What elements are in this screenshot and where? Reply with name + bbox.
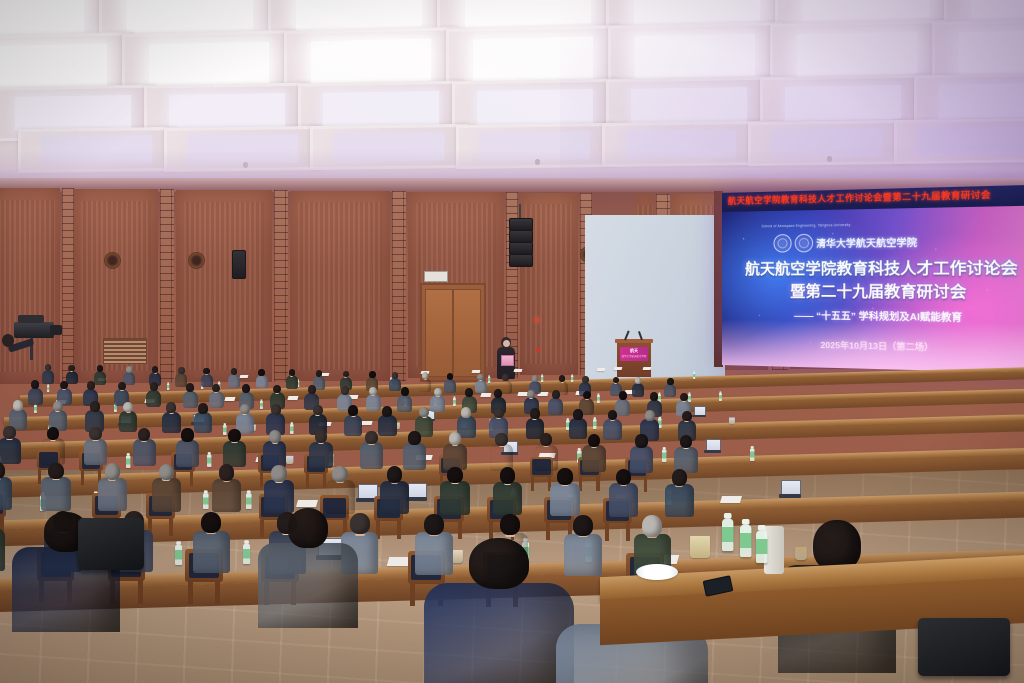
- ceiling-light-panel: [149, 41, 270, 85]
- bottle-cap: [247, 490, 251, 493]
- round-wall-speaker: [188, 252, 205, 269]
- camera-operator-head: [2, 334, 14, 347]
- audience-member: [236, 404, 255, 433]
- water-bottle: [756, 531, 767, 563]
- bottle-cap: [578, 448, 581, 450]
- audience-head: [316, 370, 322, 377]
- bottle-cap: [260, 400, 262, 401]
- water-bottle: [453, 397, 456, 405]
- chair-leg: [260, 473, 263, 487]
- bottle-cap: [488, 376, 490, 377]
- audience-torso: [193, 531, 231, 574]
- paper-document: [597, 368, 606, 371]
- audience-head: [348, 405, 358, 416]
- audience-torso: [146, 390, 161, 407]
- tsinghua-logo-row: 清华大学航天航空学院: [773, 230, 987, 253]
- audience-member: [146, 382, 161, 405]
- ceiling-light-panel: [169, 93, 284, 130]
- audience-member: [84, 427, 107, 463]
- audience-head: [465, 388, 473, 397]
- audience-member: [582, 434, 605, 470]
- aerospace-school-icon: [795, 234, 813, 253]
- audience-head: [308, 385, 316, 394]
- audience-member: [176, 428, 199, 464]
- audience-head: [343, 371, 349, 378]
- audience-head: [680, 435, 692, 448]
- audience-torso: [309, 442, 332, 469]
- water-bottle: [488, 377, 490, 383]
- water-bottle: [719, 393, 722, 401]
- audience-head: [447, 467, 463, 484]
- audience-torso: [380, 481, 409, 514]
- bottle-cap: [758, 525, 766, 531]
- bottle-cap: [224, 423, 226, 425]
- audience-member: [664, 378, 676, 396]
- audience-head: [424, 514, 444, 535]
- water-bottle: [34, 405, 37, 413]
- audience-torso: [263, 441, 286, 468]
- audience-head: [401, 387, 409, 396]
- audience-head: [616, 469, 632, 486]
- audience-member: [360, 431, 383, 467]
- audience-head: [97, 365, 103, 372]
- ceiling-light-panel: [634, 0, 760, 24]
- ceiling-light-panel: [797, 32, 918, 76]
- paper-document: [481, 393, 492, 397]
- audience-torso: [397, 395, 412, 412]
- tsinghua-seal-icon: [773, 234, 791, 253]
- audience-head: [126, 366, 132, 373]
- ceiling-light-panel: [803, 0, 929, 21]
- chair-leg: [410, 584, 415, 607]
- red-banner-text: 航天航空学院教育科技人才工作讨论会暨第二十九届教育研讨会: [728, 188, 991, 207]
- audience-torso: [0, 529, 5, 572]
- audience-head: [150, 382, 158, 391]
- audience-torso: [440, 481, 469, 514]
- paper-document: [613, 367, 622, 370]
- water-bottle: [750, 448, 754, 461]
- audience-head: [495, 433, 507, 446]
- chair-leg: [190, 472, 193, 486]
- audience-head: [240, 404, 250, 415]
- audience-head: [530, 408, 540, 419]
- audience-torso: [0, 438, 21, 465]
- audience-member: [212, 464, 241, 509]
- audience-member: [493, 467, 522, 512]
- backpack-right: [918, 618, 1010, 676]
- audience-head: [118, 382, 126, 391]
- audience-head: [369, 371, 375, 378]
- audience-head: [315, 430, 327, 443]
- audience-head: [313, 405, 323, 416]
- audience-member: [162, 402, 181, 431]
- water-bottle: [260, 401, 263, 409]
- ceiling-light-panel: [0, 44, 107, 88]
- laptop-keyboard: [779, 494, 801, 498]
- audience-member: [49, 401, 68, 430]
- audience-member: [152, 464, 181, 509]
- audience-member: [344, 405, 363, 434]
- audience-head: [434, 388, 442, 397]
- audience-torso: [152, 478, 181, 511]
- audience-member: [193, 512, 231, 570]
- audience-head: [90, 401, 100, 412]
- audience-head: [419, 407, 429, 418]
- bottle-cap: [571, 374, 573, 375]
- chair-leg: [644, 478, 647, 492]
- water-bottle: [167, 383, 169, 389]
- chair-leg: [531, 477, 534, 491]
- laptop-keyboard: [704, 450, 721, 453]
- chair-leg: [169, 519, 173, 537]
- line-array-module: [509, 254, 533, 267]
- audience-torso: [41, 477, 70, 510]
- audience-head: [181, 428, 193, 441]
- audience-member: [380, 466, 409, 511]
- bottle-cap: [597, 394, 599, 395]
- bottle-cap: [244, 540, 249, 544]
- paper-document: [643, 367, 652, 370]
- audience-head: [502, 374, 508, 381]
- audience-head: [228, 429, 240, 442]
- ceiling-light-panel: [631, 87, 746, 124]
- audience-head: [619, 391, 627, 400]
- audience-torso: [582, 445, 605, 472]
- audience-torso: [550, 483, 579, 516]
- foreground-head: [469, 538, 529, 589]
- bottle-cap: [594, 417, 596, 419]
- audience-head: [667, 378, 673, 385]
- audience-member: [41, 427, 64, 463]
- audience-head: [138, 428, 150, 441]
- audience-torso: [223, 441, 246, 468]
- backpack-left: [78, 518, 144, 570]
- audience-head: [449, 432, 461, 445]
- bottle-cap: [167, 382, 169, 383]
- audience-head: [13, 400, 23, 411]
- audience-member: [41, 463, 70, 508]
- paper-cup: [729, 418, 735, 424]
- audience-head: [557, 468, 573, 485]
- audience-member: [419, 372, 431, 390]
- chair-leg: [596, 477, 599, 491]
- audience-head: [387, 466, 403, 483]
- water-bottle: [571, 375, 573, 381]
- screen-title-line1: 航天航空学院教育科技人才工作讨论会: [722, 256, 1024, 279]
- audience-torso: [664, 384, 676, 398]
- audience-head: [608, 410, 618, 421]
- bottle-cap: [542, 375, 544, 376]
- audience-head: [552, 390, 560, 399]
- audience-torso: [133, 439, 156, 466]
- bottle-cap: [219, 381, 221, 382]
- screen-surface: 清华大学航天航空学院 School of Aerospace Engineeri…: [722, 204, 1024, 373]
- audience-head: [289, 369, 295, 376]
- round-wall-speaker: [104, 252, 121, 269]
- camera-body: [14, 322, 54, 338]
- audience-member: [326, 466, 355, 511]
- audience-head: [494, 408, 504, 419]
- chair-leg: [458, 522, 462, 540]
- audience-member: [256, 369, 268, 387]
- water-bottle: [593, 419, 597, 429]
- door-sign: [424, 271, 448, 282]
- audience-head: [477, 374, 483, 381]
- paper-document: [287, 396, 298, 400]
- audience-member: [665, 469, 694, 514]
- ceiling-light-panel: [0, 0, 84, 36]
- audience-head: [447, 373, 453, 380]
- chair-leg: [605, 523, 609, 541]
- bottle-cap: [126, 453, 129, 455]
- audience-head: [60, 381, 68, 390]
- audience-head: [47, 427, 59, 440]
- foreground-torso: [424, 583, 574, 683]
- audience-head: [369, 387, 377, 396]
- audience-head: [642, 515, 662, 536]
- audience-head: [341, 386, 349, 395]
- coffee-mug: [690, 536, 710, 558]
- chair-leg: [138, 581, 143, 604]
- paper-document: [720, 496, 742, 503]
- audience-member: [403, 431, 426, 467]
- water-bottle: [693, 373, 695, 379]
- ceiling-light-panel: [473, 37, 594, 81]
- laptop[interactable]: [704, 439, 721, 453]
- audience-torso: [0, 477, 12, 510]
- paper-document: [513, 369, 522, 372]
- audience-head: [89, 427, 101, 440]
- ceiling-light-panel: [465, 0, 591, 27]
- audience-member: [133, 428, 156, 464]
- water-bottle: [290, 424, 294, 434]
- audience-torso: [493, 482, 522, 515]
- paper-cup: [286, 456, 293, 464]
- screen-logo-cn: 清华大学航天航空学院: [816, 235, 917, 251]
- podium-top: [615, 339, 653, 343]
- water-bottle: [243, 544, 250, 564]
- audience-member: [674, 435, 697, 471]
- audience-member: [98, 463, 127, 508]
- audience-torso: [84, 439, 107, 466]
- ceiling-light-panel: [311, 39, 432, 83]
- chair-leg: [626, 523, 630, 541]
- audience-torso: [28, 388, 43, 405]
- audience-torso: [256, 375, 268, 389]
- audience-head: [105, 463, 121, 480]
- screen-title-line2: 暨第二十九届教育研讨会: [722, 280, 1024, 303]
- audience-head: [166, 402, 176, 413]
- audience-member: [440, 467, 469, 512]
- foreground-torso: [258, 543, 358, 628]
- audience-head: [635, 434, 647, 447]
- water-bottle: [740, 525, 751, 557]
- bottle-cap: [663, 447, 666, 449]
- water-bottle: [662, 449, 666, 462]
- ceiling-light-panel: [296, 0, 422, 30]
- water-bottle: [597, 395, 600, 403]
- audience-head: [573, 409, 583, 420]
- ceiling-light-panel: [635, 34, 756, 78]
- audience-head: [527, 390, 535, 399]
- bottle-cap: [204, 491, 208, 494]
- audience-head: [231, 368, 237, 375]
- audience-member: [609, 469, 638, 514]
- audience-area: [0, 350, 1024, 683]
- bottle-cap: [291, 422, 293, 424]
- audience-head: [672, 469, 688, 486]
- audience-member: [264, 465, 293, 510]
- water-bottle: [175, 544, 182, 564]
- ceiling-light-panel: [939, 83, 1024, 120]
- audience-head: [219, 464, 235, 481]
- ceiling-light-panel: [15, 95, 130, 132]
- audience-head: [573, 515, 593, 536]
- audience-head: [258, 369, 264, 376]
- audience-head: [461, 407, 471, 418]
- audience-head: [680, 393, 688, 402]
- audience-member: [286, 369, 298, 387]
- chair-leg: [579, 477, 582, 491]
- paper-document: [224, 397, 235, 401]
- audience-member: [119, 402, 138, 431]
- audience-head: [242, 384, 250, 393]
- audience-member: [550, 468, 579, 513]
- audience-head: [87, 381, 95, 390]
- audience-head: [3, 426, 15, 439]
- audience-head: [201, 512, 221, 533]
- ceiling-light-panel: [127, 0, 253, 33]
- audience-member: [266, 404, 285, 433]
- audience-member: [263, 430, 286, 466]
- audience-head: [45, 364, 51, 371]
- water-bottle: [203, 493, 209, 509]
- audience-member: [632, 377, 644, 395]
- wall-speaker-rect: [232, 250, 246, 279]
- chair-leg: [81, 471, 84, 485]
- audience-head: [159, 464, 175, 481]
- foreground-attendee-navy: [424, 538, 574, 683]
- audience-torso: [98, 478, 127, 511]
- audience-head: [500, 514, 520, 535]
- laptop[interactable]: [779, 480, 801, 498]
- audience-head: [540, 433, 552, 446]
- ceiling-light-panel: [477, 89, 592, 126]
- audience-head: [494, 389, 502, 398]
- bottle-cap: [750, 446, 753, 448]
- audience-head: [583, 391, 591, 400]
- audience-head: [271, 465, 287, 482]
- bottle-cap: [453, 396, 455, 397]
- audience-head: [332, 466, 348, 483]
- audience-head: [186, 383, 194, 392]
- conference-hall-photo: 清华大学航天航空学院 School of Aerospace Engineeri…: [0, 0, 1024, 683]
- audience-torso: [609, 483, 638, 516]
- paper-document: [296, 500, 318, 507]
- audience-torso: [42, 370, 54, 384]
- paper-document: [239, 375, 248, 378]
- audience-torso: [632, 383, 644, 397]
- audience-member: [0, 510, 5, 568]
- chair-leg: [215, 582, 220, 605]
- audience-torso: [41, 438, 64, 465]
- bottle-cap: [724, 513, 732, 519]
- audience-torso: [665, 484, 694, 517]
- audience-head: [48, 463, 64, 480]
- audience-member: [534, 433, 557, 469]
- audience-torso: [286, 375, 298, 389]
- audience-head: [123, 402, 133, 413]
- audience-head: [650, 392, 658, 401]
- plate: [636, 564, 678, 580]
- audience-member: [223, 429, 246, 465]
- audience-head: [198, 403, 208, 414]
- audience-head: [31, 380, 39, 389]
- audience-torso: [603, 419, 622, 440]
- ceiling-light-panel: [972, 0, 1024, 18]
- chair-leg: [306, 474, 309, 488]
- audience-torso: [444, 379, 456, 393]
- bottle-cap: [48, 385, 50, 386]
- ceiling-light-panel: [959, 29, 1024, 73]
- audience-head: [613, 377, 619, 384]
- foreground-attendee-grey: [258, 508, 358, 626]
- audience-head: [500, 467, 516, 484]
- audience-member: [603, 410, 622, 439]
- audience-head: [178, 367, 184, 374]
- chair-leg: [397, 521, 401, 539]
- audience-member: [443, 432, 466, 468]
- camera-hood: [18, 315, 44, 323]
- audience-head: [271, 404, 281, 415]
- audience-member: [28, 380, 43, 403]
- audience-head: [682, 411, 692, 422]
- audience-member: [444, 373, 456, 391]
- water-bottle: [47, 386, 49, 392]
- water-bottle: [246, 493, 252, 509]
- audience-member: [42, 364, 54, 382]
- audience-member: [0, 462, 12, 507]
- presenter-face: [503, 340, 510, 347]
- audience-member: [194, 403, 213, 432]
- audience-head: [269, 430, 281, 443]
- led-presentation-screen: 清华大学航天航空学院 School of Aerospace Engineeri…: [722, 185, 1024, 374]
- water-bottle: [722, 519, 733, 551]
- hanging-line-array-speaker: [509, 218, 531, 268]
- audience-head: [532, 375, 538, 382]
- bottle-cap: [176, 541, 181, 545]
- audience-torso: [360, 442, 383, 469]
- audience-member: [630, 434, 653, 470]
- audience-head: [365, 431, 377, 444]
- bottle-cap: [659, 416, 661, 418]
- audience-head: [392, 372, 398, 379]
- audience-head: [582, 376, 588, 383]
- audience-head: [408, 431, 420, 444]
- ceiling-light-panel: [323, 91, 438, 128]
- audience-member: [85, 401, 104, 430]
- audience-head: [203, 368, 209, 375]
- audience-member: [397, 387, 412, 410]
- audience-head: [382, 406, 392, 417]
- audience-torso: [212, 479, 241, 512]
- audience-member: [309, 430, 332, 466]
- audience-member: [0, 426, 21, 462]
- emergency-light-icon: [535, 318, 539, 322]
- video-camera-rig: [6, 312, 68, 358]
- ceiling-light-panel: [785, 85, 900, 122]
- camera-lens-icon: [50, 325, 62, 335]
